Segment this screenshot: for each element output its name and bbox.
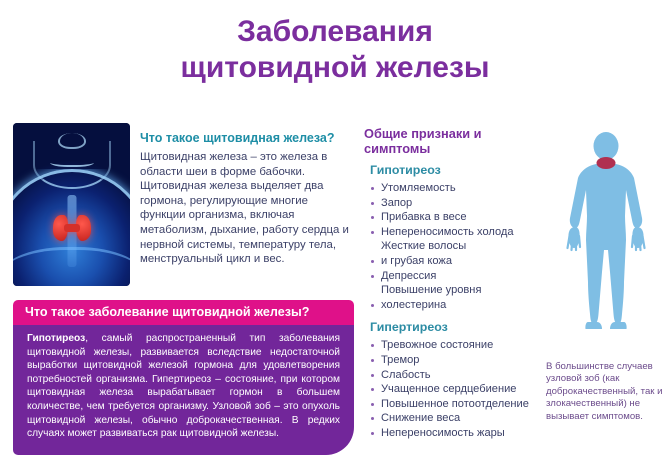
- infographic-poster: Заболевания щитовидной железы Что такое …: [0, 0, 670, 458]
- thyroid-location-marker: [597, 157, 616, 169]
- symptom-item: Тревожное состояние: [370, 338, 550, 353]
- what-is-thyroid-heading: Что такое щитовидная железа?: [140, 131, 352, 146]
- symptom-item: Прибавка в весе: [370, 210, 550, 225]
- page-title: Заболевания щитовидной железы: [0, 14, 670, 86]
- thyroid-disease-body-text: , самый распространенный тип заболевания…: [27, 333, 340, 439]
- thyroid-gland-highlight: [53, 215, 91, 241]
- page-title-line-1: Заболевания: [0, 14, 670, 50]
- symptom-item: Непереносимость холода: [370, 225, 550, 240]
- symptom-list: УтомляемостьЗапорПрибавка в весеНеперено…: [370, 181, 550, 312]
- thyroid-disease-body: Гипотиреоз, самый распространенный тип з…: [13, 325, 354, 455]
- thyroid-isthmus: [64, 224, 80, 232]
- page-title-line-2: щитовидной железы: [0, 50, 670, 86]
- symptom-item: Жесткие волосы: [370, 239, 550, 254]
- thyroid-disease-panel: Что такое заболевание щитовидной железы?…: [13, 300, 354, 455]
- symptom-item: Непереносимость жары: [370, 426, 550, 441]
- symptoms-heading: Общие признаки и симптомы: [364, 126, 550, 156]
- symptom-item: холестерина: [370, 298, 550, 313]
- symptom-item: Запор: [370, 196, 550, 211]
- thyroid-anatomy-image: [13, 123, 130, 286]
- what-is-thyroid-paragraph: Щитовидная железа – это железа в области…: [140, 150, 352, 267]
- symptom-groups: ГипотиреозУтомляемостьЗапорПрибавка в ве…: [364, 163, 550, 441]
- symptom-item: Учащенное сердцебиение: [370, 382, 550, 397]
- symptom-group-1: ГипотиреозУтомляемостьЗапорПрибавка в ве…: [370, 163, 550, 312]
- symptoms-section: Общие признаки и симптомы ГипотиреозУтом…: [364, 126, 550, 449]
- symptom-item: Утомляемость: [370, 181, 550, 196]
- symptom-item: Слабость: [370, 368, 550, 383]
- what-is-thyroid-section: Что такое щитовидная железа? Щитовидная …: [140, 131, 352, 267]
- symptom-item: и грубая кожа: [370, 254, 550, 269]
- goiter-note: В большинстве случаев узловой зоб (как д…: [546, 361, 664, 423]
- symptom-item: Депрессия: [370, 269, 550, 284]
- thyroid-disease-lead-term: Гипотиреоз: [27, 333, 85, 344]
- symptom-group-2: ГипертиреозТревожное состояниеТреморСлаб…: [370, 320, 550, 440]
- symptom-group-title: Гипертиреоз: [370, 320, 550, 335]
- human-body-silhouette: [556, 132, 656, 338]
- symptom-list: Тревожное состояниеТреморСлабостьУчащенн…: [370, 338, 550, 440]
- symptom-item: Тремор: [370, 353, 550, 368]
- thyroid-disease-heading: Что такое заболевание щитовидной железы?: [13, 300, 354, 325]
- symptom-item: Снижение веса: [370, 411, 550, 426]
- symptom-item: Повышение уровня: [370, 283, 550, 298]
- shoulders-outline: [13, 247, 130, 286]
- symptom-group-title: Гипотиреоз: [370, 163, 550, 178]
- symptom-item: Повышенное потоотделение: [370, 397, 550, 412]
